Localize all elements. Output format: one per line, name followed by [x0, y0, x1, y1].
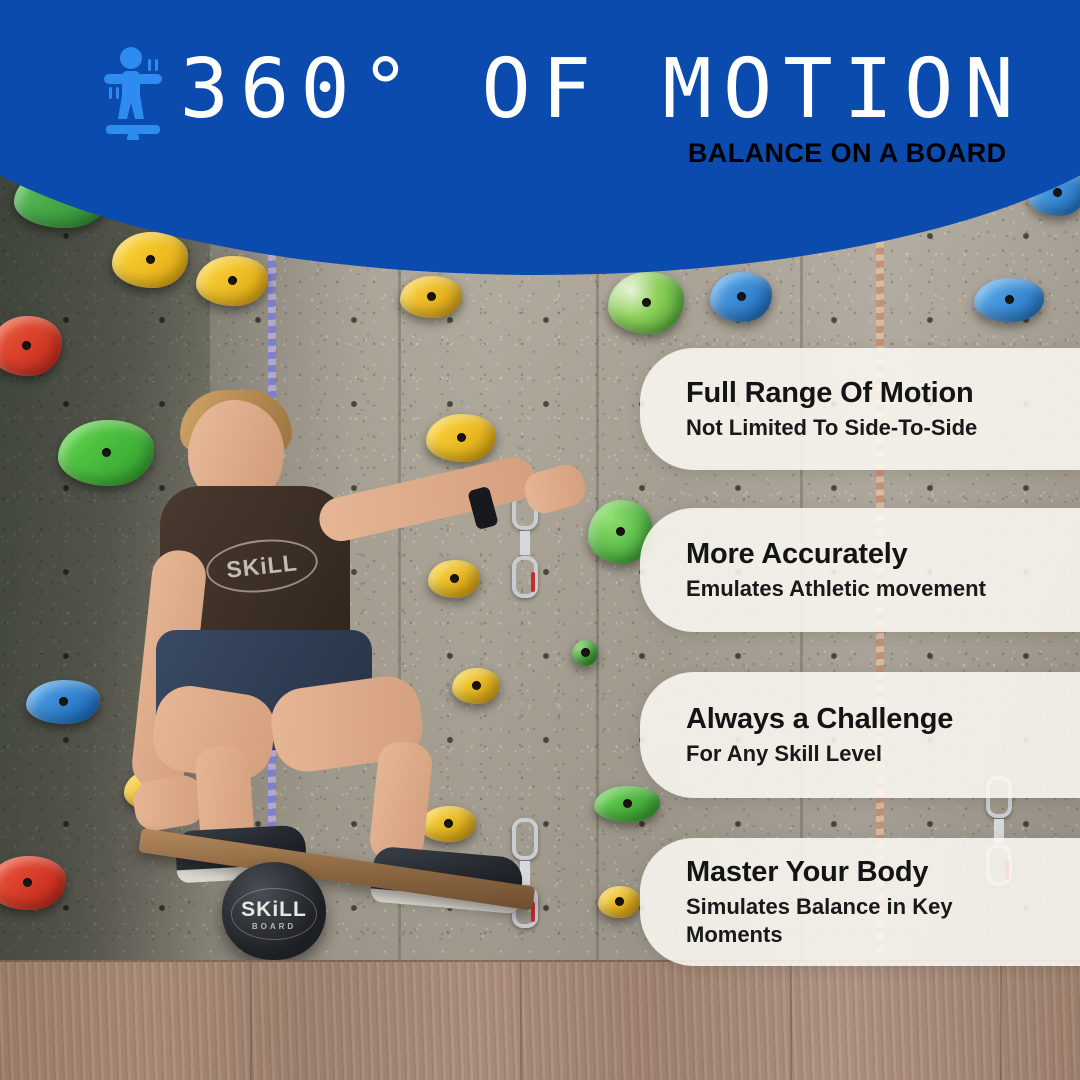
feature-card-subtitle: For Any Skill Level	[686, 740, 1054, 768]
feature-card[interactable]: More Accurately Emulates Athletic moveme…	[640, 508, 1080, 632]
athlete-right-shin	[368, 740, 434, 865]
ball-brand-sublabel: BOARD	[236, 922, 312, 931]
climbing-hold-yellow	[598, 886, 640, 918]
feature-card-subtitle: Emulates Athletic movement	[686, 575, 1054, 603]
person-on-balance-board-icon	[100, 45, 166, 140]
feature-card-subtitle: Not Limited To Side-To-Side	[686, 414, 1054, 442]
climbing-hold-green	[594, 786, 660, 822]
balance-ball: SKiLL BOARD	[222, 862, 326, 960]
page-title: 360° OF MOTION	[180, 47, 1025, 133]
feature-card-title: Master Your Body	[686, 855, 1054, 889]
climbing-hold-yellow	[400, 276, 462, 318]
feature-card[interactable]: Always a Challenge For Any Skill Level	[640, 672, 1080, 798]
climbing-hold-blue	[710, 272, 772, 322]
feature-card-title: Full Range Of Motion	[686, 376, 1054, 410]
climbing-hold-green-speckled	[608, 272, 684, 334]
climbing-hold-blue	[26, 680, 100, 724]
feature-card[interactable]: Master Your Body Simulates Balance in Ke…	[640, 838, 1080, 966]
feature-card[interactable]: Full Range Of Motion Not Limited To Side…	[640, 348, 1080, 470]
climbing-hold-blue	[974, 278, 1044, 322]
header-banner: 360° OF MOTION BALANCE ON A BOARD	[0, 0, 1080, 275]
wood-floor	[0, 960, 1080, 1080]
infographic-canvas: SKiLL SKiLL BOARD	[0, 0, 1080, 1080]
feature-card-title: Always a Challenge	[686, 702, 1054, 736]
feature-card-subtitle: Simulates Balance in Key Moments	[686, 893, 1054, 949]
feature-card-title: More Accurately	[686, 537, 1054, 571]
ball-brand-label: SKiLL	[236, 898, 312, 922]
athlete-right-arm	[315, 453, 539, 545]
page-subtitle: BALANCE ON A BOARD	[688, 138, 1007, 169]
